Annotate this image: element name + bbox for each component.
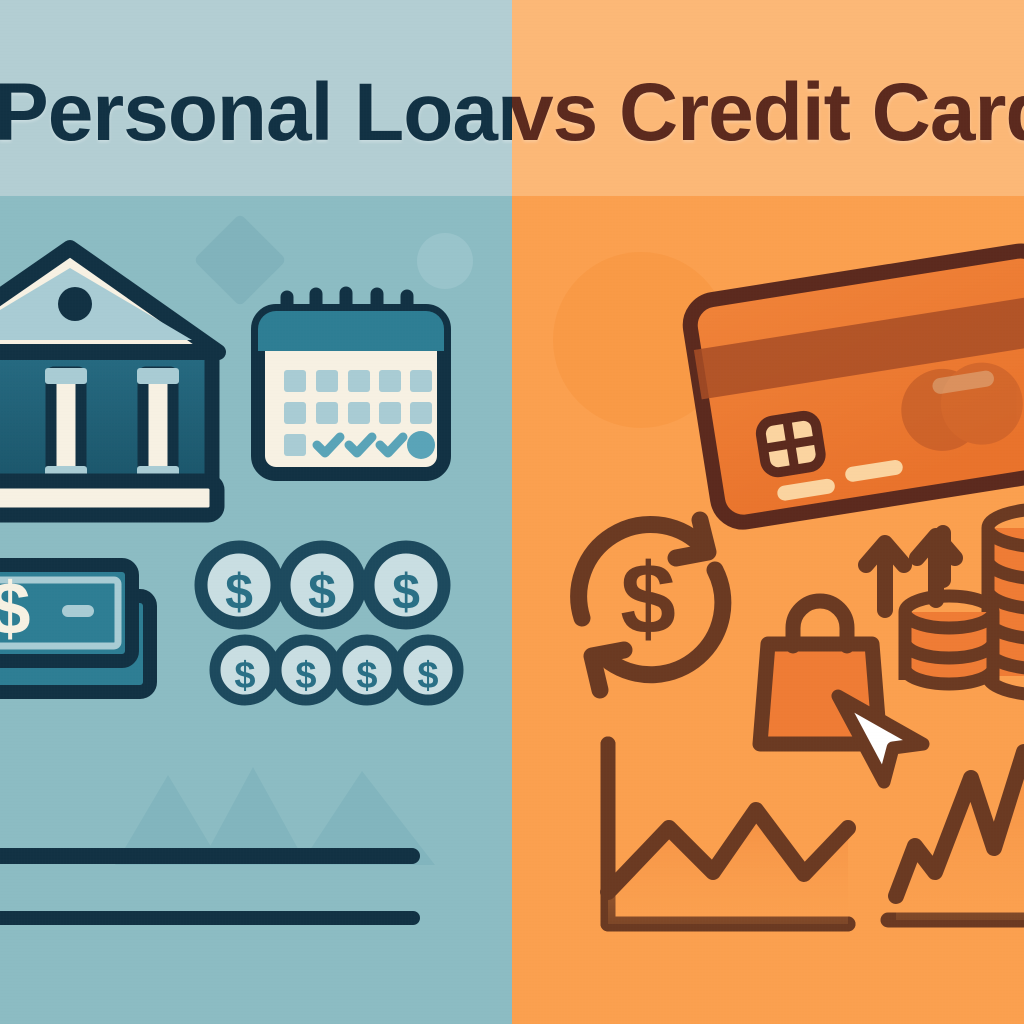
header-band-right <box>512 0 1024 196</box>
infographic-canvas: $ $ $ $ $ $ <box>0 0 1024 1024</box>
header-band-left <box>0 0 512 196</box>
